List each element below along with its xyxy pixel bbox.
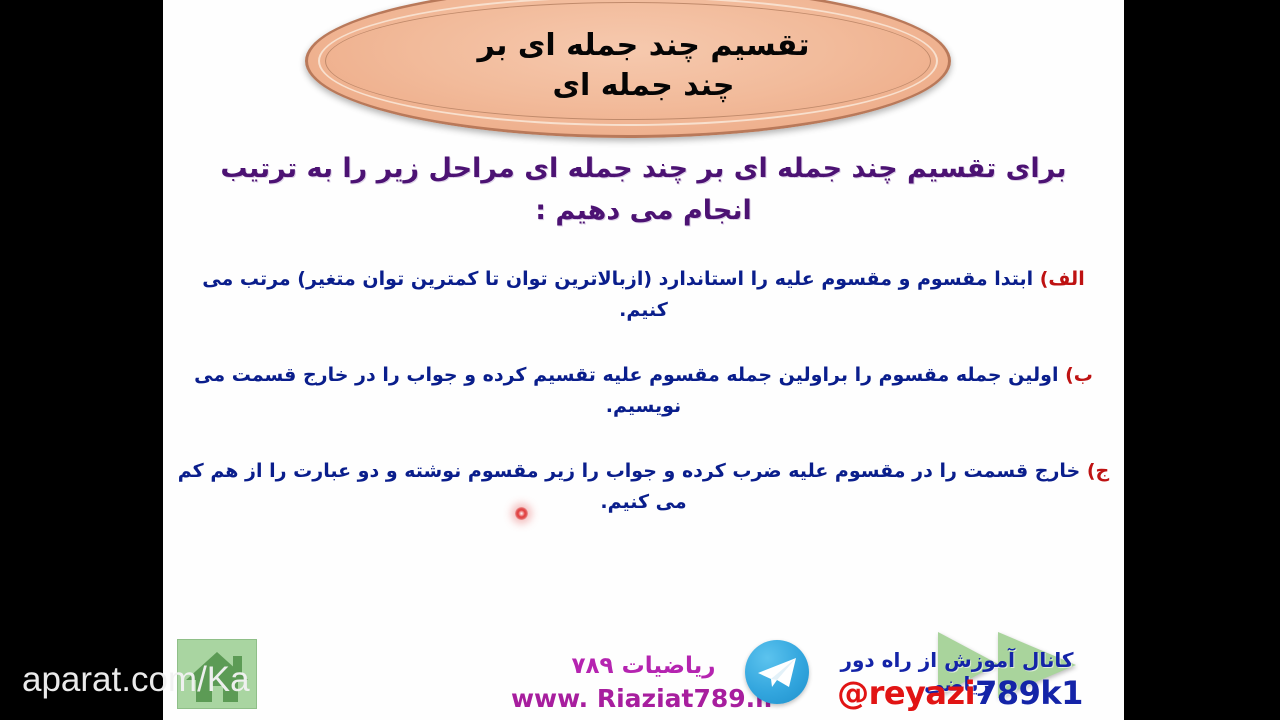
intro-paragraph: برای تقسیم چند جمله ای بر چند جمله ای مر… — [189, 148, 1098, 232]
step-marker-alef: الف) — [1040, 268, 1085, 290]
step-item-jim: ج) خارج قسمت را در مقسوم علیه ضرب کرده و… — [177, 456, 1110, 518]
telegram-icon[interactable] — [745, 640, 809, 704]
channel-handle: @reyazi789k1 — [810, 674, 1110, 712]
step-marker-jim: ج) — [1087, 460, 1109, 482]
letterbox-bar-left — [0, 0, 163, 720]
step-item-alef: الف) ابتدا مقسوم و مقسوم علیه را استاندا… — [177, 264, 1110, 326]
step-text-alef: ابتدا مقسوم و مقسوم علیه را استاندارد (ا… — [202, 268, 1039, 321]
slide-stage: تقسیم چند جمله ای بر چند جمله ای برای تق… — [0, 0, 1280, 720]
telegram-channel-banner[interactable]: کانال آموزش از راه دور ریاضی @reyazi789k… — [740, 624, 1124, 720]
letterbox-bar-right — [1124, 0, 1280, 720]
steps-list: الف) ابتدا مقسوم و مقسوم علیه را استاندا… — [177, 264, 1110, 518]
step-item-be: ب) اولین جمله مقسوم را براولین جمله مقسو… — [177, 360, 1110, 422]
page-title: تقسیم چند جمله ای بر چند جمله ای — [163, 26, 1124, 106]
step-text-be: اولین جمله مقسوم را براولین جمله مقسوم ع… — [194, 364, 1065, 417]
aparat-watermark: aparat.com/Ka — [22, 660, 250, 700]
step-marker-be: ب) — [1065, 364, 1093, 386]
laser-pointer-dot-icon — [515, 507, 528, 520]
title-line-1: تقسیم چند جمله ای بر — [477, 28, 809, 63]
step-text-jim: خارج قسمت را در مقسوم علیه ضرب کرده و جو… — [178, 460, 1087, 513]
channel-handle-blue: 789k1 — [975, 674, 1083, 712]
channel-handle-red: @reyazi — [837, 674, 975, 712]
title-line-2: چند جمله ای — [163, 66, 1124, 106]
slide-canvas: تقسیم چند جمله ای بر چند جمله ای برای تق… — [163, 0, 1124, 720]
